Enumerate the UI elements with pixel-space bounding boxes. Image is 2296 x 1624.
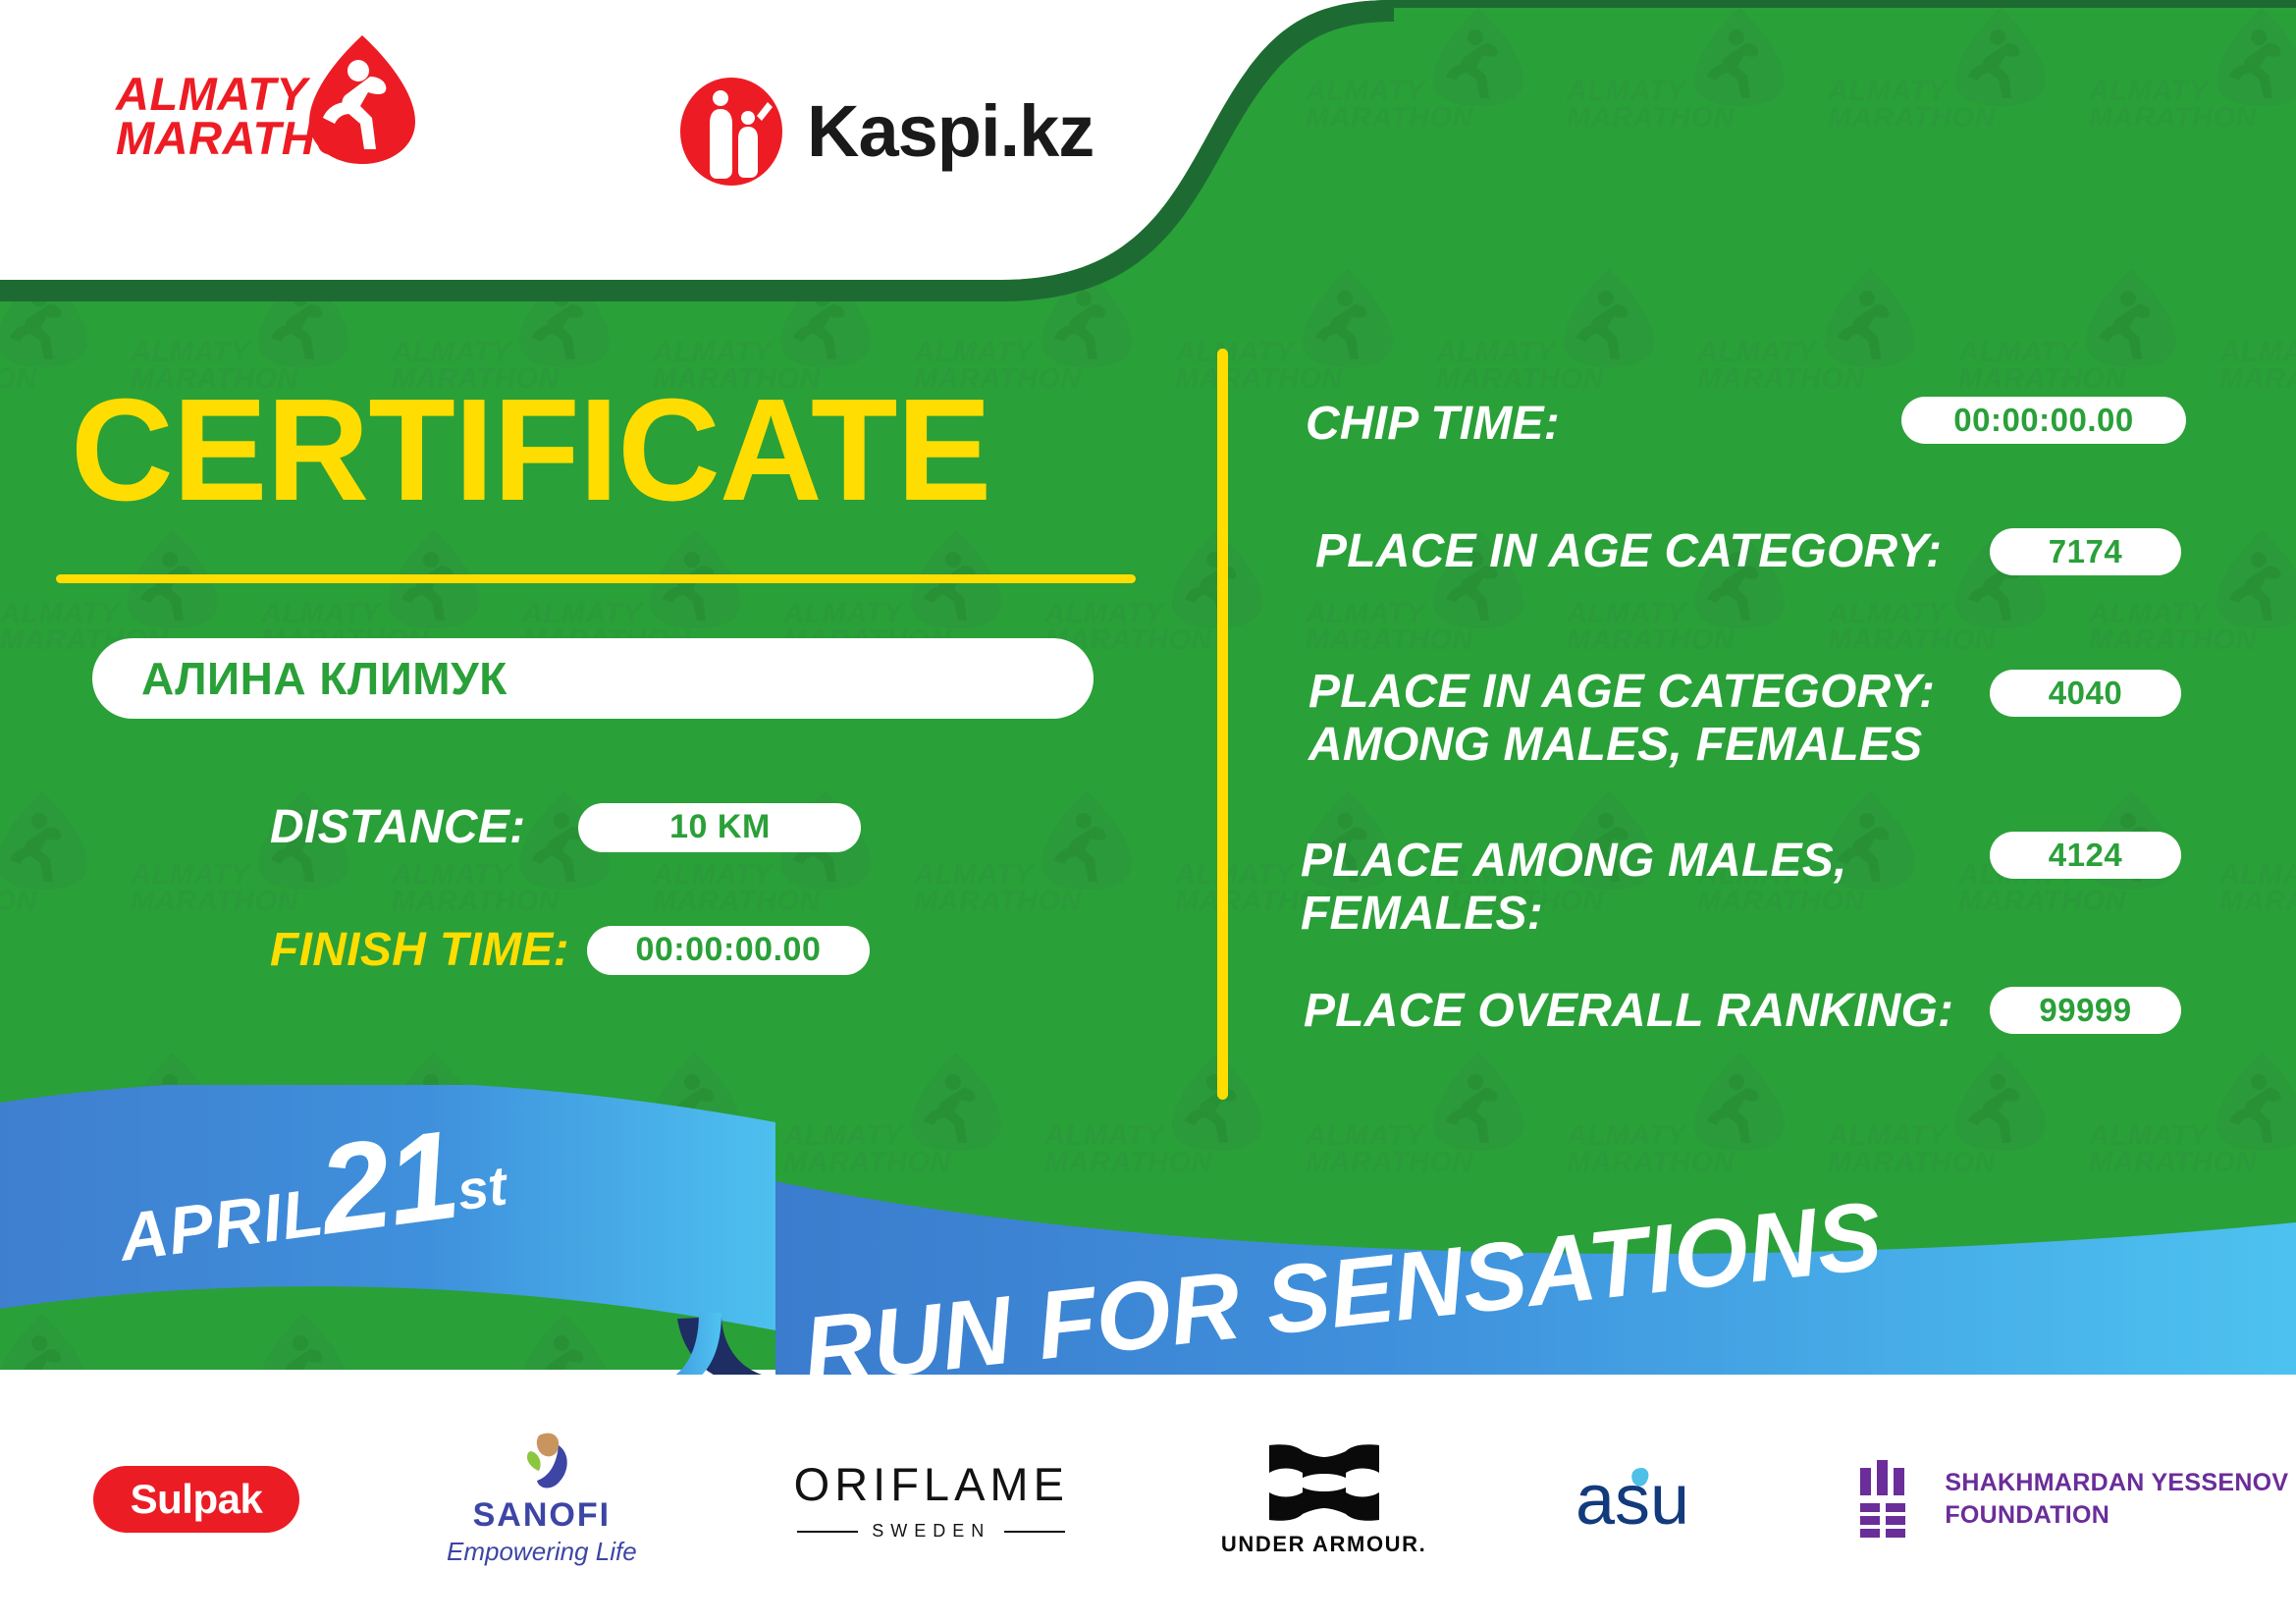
oriflame-rule-right	[1004, 1531, 1065, 1533]
sanofi-tagline: Empowering Life	[447, 1537, 637, 1567]
stat-label-place-overall: PLACE OVERALL RANKING:	[1304, 985, 1953, 1038]
sponsor-logo-sulpak: Sulpak	[93, 1466, 299, 1533]
yessenov-line1: SHAKHMARDAN YESSENOV	[1945, 1467, 2288, 1499]
under-armour-icon	[1263, 1441, 1385, 1524]
sulpak-wordmark: Sulpak	[131, 1476, 263, 1523]
stat-row-chip-time: CHIP TIME:	[1306, 398, 1560, 451]
stat-value-pill-place-among-gender: 4124	[1990, 832, 2181, 879]
stat-row-place-overall: PLACE OVERALL RANKING:	[1304, 985, 1953, 1038]
participant-name-field: АЛИНА КЛИМУК	[92, 638, 1094, 719]
kaspi-logo: Kaspi.kz	[677, 77, 1094, 187]
runner-drop-icon	[307, 33, 417, 166]
stat-row-place-age-category: PLACE IN AGE CATEGORY:	[1315, 525, 1942, 578]
stat-label-chip-time: CHIP TIME:	[1306, 398, 1560, 451]
stat-row-place-among-gender: PLACE AMONG MALES,FEMALES:	[1301, 835, 1847, 941]
stat-value-place-overall: 99999	[2039, 992, 2131, 1029]
distance-row: DISTANCE: 10 KM	[270, 800, 861, 854]
stat-label-place-among-gender: PLACE AMONG MALES,FEMALES:	[1301, 835, 1847, 941]
vertical-divider	[1217, 349, 1228, 1100]
yessenov-line2: FOUNDATION	[1945, 1499, 2288, 1532]
sponsor-logo-under-armour: UNDER ARMOUR.	[1221, 1441, 1426, 1557]
almaty-marathon-logo: ALMATY MARATHON	[116, 47, 450, 185]
stat-value-place-age-category: 7174	[2049, 533, 2122, 570]
stat-value-place-among-gender: 4124	[2049, 837, 2122, 874]
participant-name-value: АЛИНА КЛИМУК	[141, 652, 507, 705]
sponsor-logo-oriflame: ORIFLAME SWEDEN	[794, 1457, 1069, 1542]
distance-value: 10 KM	[669, 808, 771, 846]
finish-time-row: FINISH TIME: 00:00:00.00	[270, 923, 870, 977]
sponsor-logo-yessenov-foundation: SHAKHMARDAN YESSENOV FOUNDATION	[1858, 1460, 2288, 1539]
sponsor-logo-sanofi: SANOFI Empowering Life	[447, 1432, 637, 1567]
stat-value-pill-place-age-category: 7174	[1990, 528, 2181, 575]
finish-time-label: FINISH TIME:	[270, 923, 569, 977]
kaspi-wordmark: Kaspi.kz	[807, 95, 1094, 168]
kaspi-people-icon	[677, 77, 785, 187]
oriflame-country: SWEDEN	[872, 1521, 990, 1542]
stat-value-chip-time: 00:00:00.00	[1953, 402, 2133, 439]
finish-time-value-pill: 00:00:00.00	[587, 926, 870, 975]
sanofi-wordmark: SANOFI	[473, 1496, 611, 1535]
event-date-day: 21	[311, 1105, 464, 1262]
stat-value-pill-place-overall: 99999	[1990, 987, 2181, 1034]
distance-value-pill: 10 KM	[578, 803, 861, 852]
event-date-month: APRIL	[115, 1174, 328, 1275]
sponsor-bar: Sulpak SANOFI Empowering Life ORIFLAME S…	[0, 1375, 2296, 1624]
page-title: CERTIFICATE	[71, 378, 990, 523]
stat-value-pill-place-age-category-gender: 4040	[1990, 670, 2181, 717]
oriflame-sub-row: SWEDEN	[797, 1521, 1065, 1542]
under-armour-wordmark: UNDER ARMOUR.	[1221, 1532, 1426, 1557]
distance-label: DISTANCE:	[270, 800, 525, 854]
header-panel: ALMATY MARATHON Kaspi.kz	[0, 0, 1394, 314]
asu-icon: asu	[1574, 1459, 1731, 1540]
sanofi-mark-icon	[509, 1432, 574, 1492]
stat-value-place-age-category-gender: 4040	[2049, 675, 2122, 712]
stat-label-place-age-category: PLACE IN AGE CATEGORY:	[1315, 525, 1942, 578]
stat-label-place-age-category-gender: PLACE IN AGE CATEGORY:AMONG MALES, FEMAL…	[1308, 666, 1935, 772]
sponsor-logo-asu: asu	[1574, 1459, 1731, 1540]
title-underline-rule	[56, 574, 1136, 583]
yessenov-foundation-icon	[1858, 1460, 1919, 1539]
oriflame-wordmark: ORIFLAME	[794, 1457, 1069, 1511]
finish-time-value: 00:00:00.00	[635, 931, 821, 969]
event-date-suffix: st	[454, 1154, 510, 1221]
certificate-canvas: ALMATYMARATHONALMATYMARATHONALMATYMARATH…	[0, 0, 2296, 1624]
stat-value-pill-chip-time: 00:00:00.00	[1901, 397, 2186, 444]
oriflame-rule-left	[797, 1531, 858, 1533]
stat-row-place-age-category-gender: PLACE IN AGE CATEGORY:AMONG MALES, FEMAL…	[1308, 666, 1935, 772]
yessenov-foundation-wordmark: SHAKHMARDAN YESSENOV FOUNDATION	[1945, 1467, 2288, 1532]
